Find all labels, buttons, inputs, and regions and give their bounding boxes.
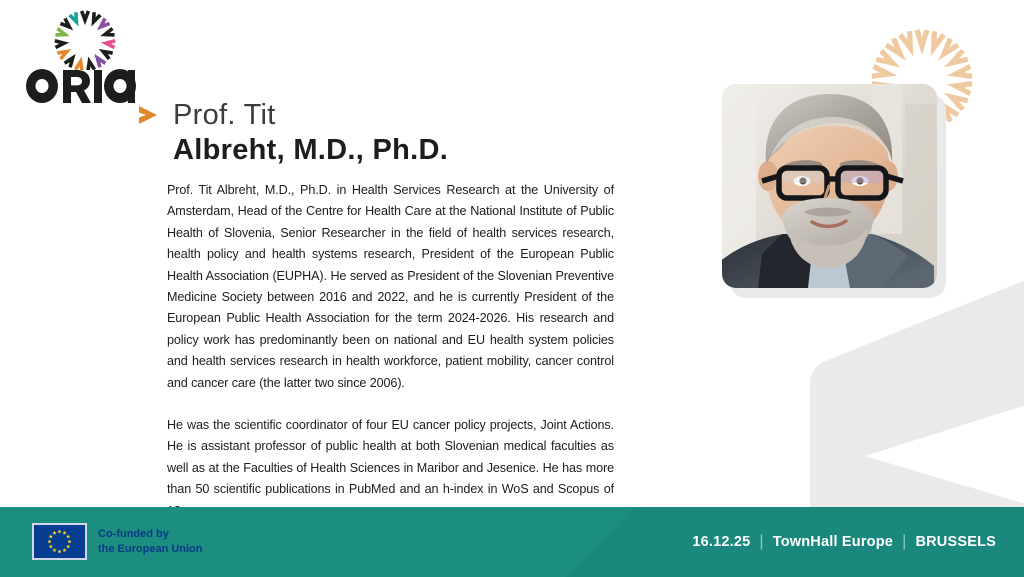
speaker-heading: Prof. Tit Albreht, M.D., Ph.D. <box>137 98 448 166</box>
eu-funding-text: Co-funded by the European Union <box>98 527 203 556</box>
speaker-name-line1: Prof. Tit <box>173 101 276 130</box>
background-chevron-shape <box>660 258 1024 548</box>
event-date: 16.12.25 <box>692 534 750 550</box>
eu-funding-line1: Co-funded by <box>98 527 203 542</box>
bio-paragraph: Prof. Tit Albreht, M.D., Ph.D. in Health… <box>167 180 614 394</box>
event-separator: | <box>902 533 906 551</box>
event-separator: | <box>759 533 763 551</box>
speaker-bio: Prof. Tit Albreht, M.D., Ph.D. in Health… <box>167 180 614 522</box>
event-venue: TownHall Europe <box>773 534 893 550</box>
event-details: 16.12.25 | TownHall Europe | BRUSSELS <box>692 507 996 577</box>
orion-logo <box>24 8 144 104</box>
speaker-name-row: Prof. Tit <box>137 98 448 132</box>
eu-funding-line2: the European Union <box>98 542 203 557</box>
orange-chevron-icon <box>137 104 164 126</box>
orion-burst-icon <box>50 8 120 70</box>
event-city: BRUSSELS <box>915 534 996 550</box>
speaker-name-line2: Albreht, M.D., Ph.D. <box>173 135 448 166</box>
presentation-slide: Prof. Tit Albreht, M.D., Ph.D. Prof. Tit… <box>0 0 1024 577</box>
european-union-flag-icon <box>32 523 87 560</box>
slide-footer: Co-funded by the European Union 16.12.25… <box>0 507 1024 577</box>
eu-funding-block: Co-funded by the European Union <box>32 523 203 560</box>
speaker-photo-container <box>722 84 946 298</box>
orion-wordmark <box>24 66 144 106</box>
speaker-portrait <box>722 84 937 288</box>
